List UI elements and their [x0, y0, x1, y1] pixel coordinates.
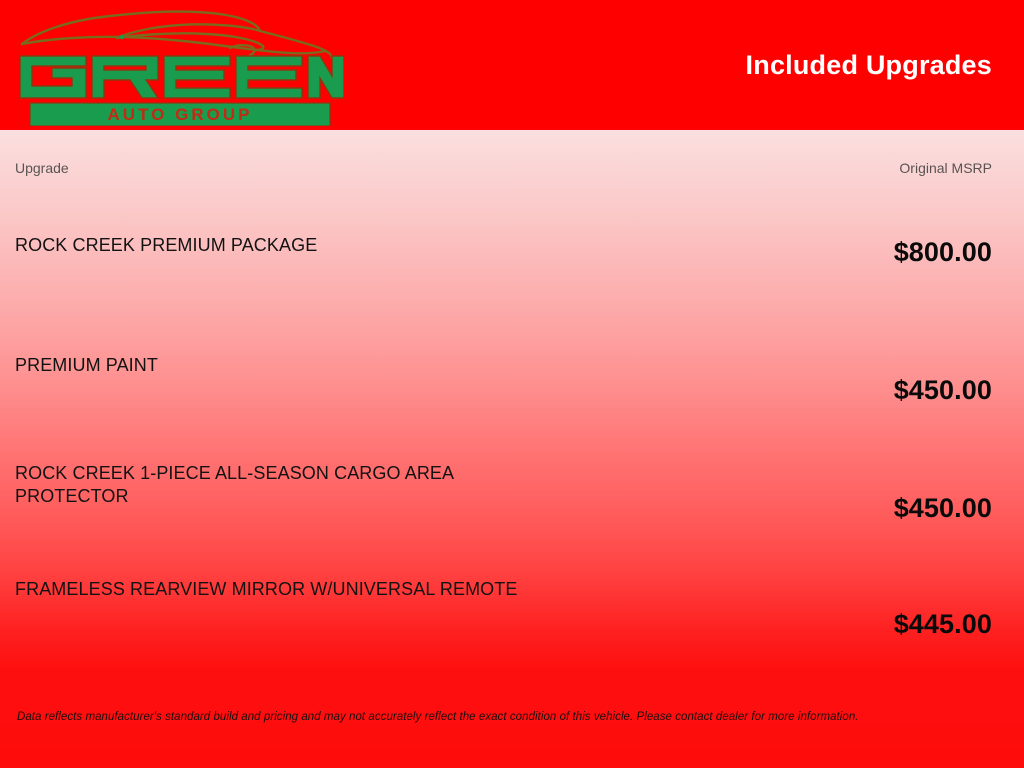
dealer-logo[interactable]: AUTO GROUP	[14, 4, 344, 126]
page-title: Included Upgrades	[746, 50, 992, 81]
table-row: FRAMELESS REARVIEW MIRROR W/UNIVERSAL RE…	[0, 542, 1024, 662]
table-row: ROCK CREEK PREMIUM PACKAGE $800.00	[0, 182, 1024, 302]
upgrade-price: $450.00	[894, 375, 992, 406]
car-silhouette-icon	[22, 12, 332, 58]
table-row: PREMIUM PAINT $450.00	[0, 302, 1024, 422]
upgrade-price: $450.00	[894, 493, 992, 524]
upgrade-price: $800.00	[894, 237, 992, 268]
upgrade-label: PREMIUM PAINT	[15, 354, 535, 377]
svg-text:AUTO GROUP: AUTO GROUP	[108, 105, 253, 124]
upgrade-label: FRAMELESS REARVIEW MIRROR W/UNIVERSAL RE…	[15, 578, 535, 601]
page-header: AUTO GROUP Included Upgrades	[0, 0, 1024, 130]
table-header-row: Upgrade Original MSRP	[0, 130, 1024, 182]
upgrade-price: $445.00	[894, 609, 992, 640]
logo-tagline-bar: AUTO GROUP	[30, 103, 330, 126]
table-row: ROCK CREEK 1-PIECE ALL-SEASON CARGO AREA…	[0, 422, 1024, 542]
upgrades-sheet: AUTO GROUP Included Upgrades Upgrade Ori…	[0, 0, 1024, 768]
upgrades-table: Upgrade Original MSRP ROCK CREEK PREMIUM…	[0, 130, 1024, 662]
disclaimer-text: Data reflects manufacturer's standard bu…	[17, 711, 997, 723]
logo-wordmark	[20, 56, 344, 98]
column-header-upgrade: Upgrade	[15, 160, 69, 176]
upgrade-label: ROCK CREEK 1-PIECE ALL-SEASON CARGO AREA…	[15, 462, 535, 508]
upgrade-label: ROCK CREEK PREMIUM PACKAGE	[15, 234, 535, 257]
column-header-msrp: Original MSRP	[899, 160, 992, 176]
